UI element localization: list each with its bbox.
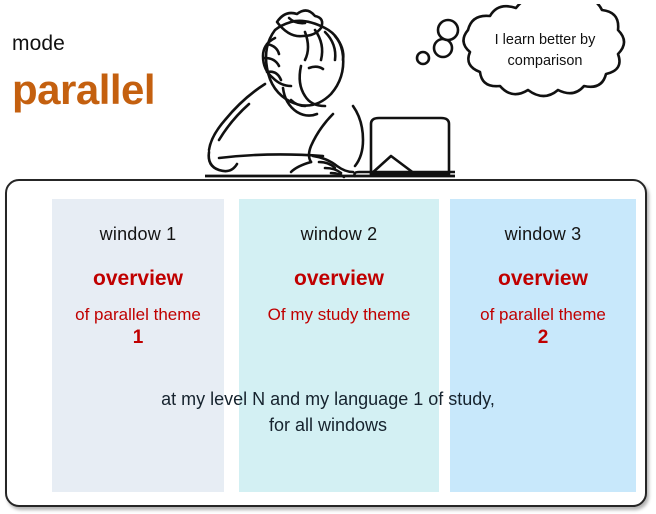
window-theme-number: 2 xyxy=(450,326,636,351)
window-panel-1[interactable]: window 1 overview of parallel theme 1 xyxy=(52,199,224,492)
window-overview-description: of parallel theme xyxy=(450,304,636,326)
window-overview-description: Of my study theme xyxy=(239,304,439,326)
window-panel-2[interactable]: window 2 overview Of my study theme xyxy=(239,199,439,492)
window-overview-label: overview xyxy=(52,267,224,290)
window-columns: window 1 overview of parallel theme 1 wi… xyxy=(7,181,649,509)
window-title: window 3 xyxy=(450,225,636,245)
window-theme-number: 1 xyxy=(52,326,224,351)
window-panel-3[interactable]: window 3 overview of parallel theme 2 xyxy=(450,199,636,492)
mode-label: mode xyxy=(12,32,65,56)
window-title: window 2 xyxy=(239,225,439,245)
thought-bubble-text: I learn better by comparison xyxy=(466,30,624,71)
windows-container: window 1 overview of parallel theme 1 wi… xyxy=(5,179,647,507)
window-overview-label: overview xyxy=(239,267,439,290)
header-area: mode parallel xyxy=(0,0,656,180)
thought-bubble: I learn better by comparison xyxy=(430,4,656,140)
mode-value: parallel xyxy=(12,66,155,114)
window-title: window 1 xyxy=(52,225,224,245)
window-overview-description: of parallel theme xyxy=(52,304,224,326)
window-overview-label: overview xyxy=(450,267,636,290)
person-studying-at-laptop-illustration xyxy=(205,0,455,186)
